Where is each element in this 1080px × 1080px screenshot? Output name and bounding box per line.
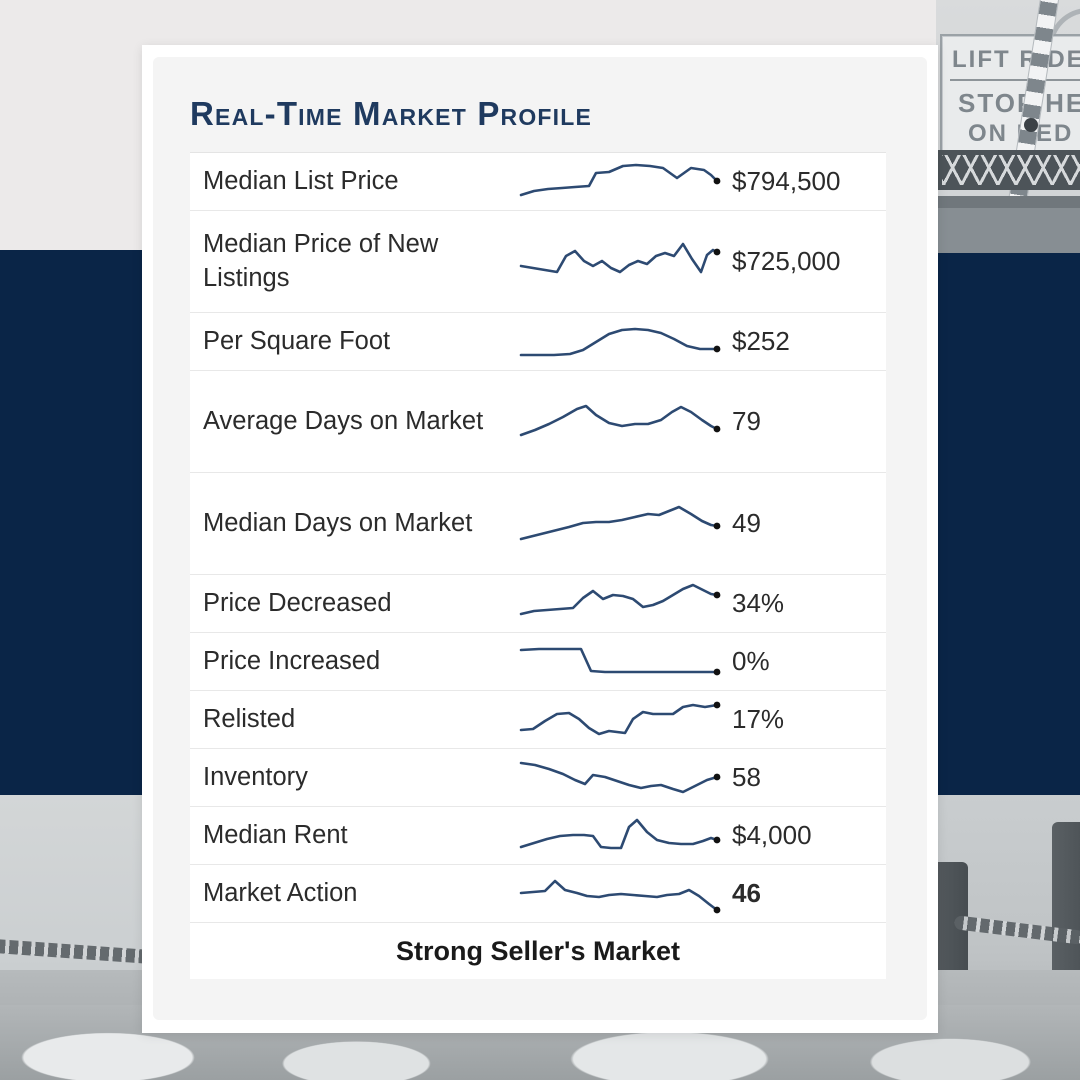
metric-value: 17% <box>717 704 874 735</box>
table-row[interactable]: Median Days on Market49 <box>190 473 886 575</box>
table-row[interactable]: Median Rent$4,000 <box>190 807 886 865</box>
table-row[interactable]: Per Square Foot$252 <box>190 313 886 371</box>
sparkline-chart <box>521 697 717 743</box>
table-row[interactable]: Median List Price$794,500 <box>190 153 886 211</box>
metric-label: Price Decreased <box>203 587 521 621</box>
metric-value: $4,000 <box>717 820 874 851</box>
sign-plate: LIFT RIDE STOP HERE ON RED <box>940 34 1080 156</box>
sparkline-chart <box>521 159 717 205</box>
metric-label: Average Days on Market <box>203 405 521 439</box>
sparkline-chart <box>521 639 717 685</box>
metric-value: 34% <box>717 588 874 619</box>
metric-label: Median Price of New Listings <box>203 228 521 295</box>
table-row[interactable]: Price Increased0% <box>190 633 886 691</box>
metric-label: Per Square Foot <box>203 325 521 359</box>
metric-value: 79 <box>717 406 874 437</box>
sparkline-chart <box>521 319 717 365</box>
market-profile-card: Real-Time Market Profile Median List Pri… <box>142 45 938 1033</box>
ski-lift-sign-photo: LIFT RIDE STOP HERE ON RED <box>936 0 1080 253</box>
card-panel: Real-Time Market Profile Median List Pri… <box>153 57 927 1020</box>
metric-value: $725,000 <box>717 246 874 277</box>
metric-label: Median Days on Market <box>203 507 521 541</box>
status-badge: Strong Seller's Market <box>396 936 680 967</box>
page-title: Real-Time Market Profile <box>190 95 592 133</box>
sparkline-chart <box>521 581 717 627</box>
table-row[interactable]: Relisted17% <box>190 691 886 749</box>
sparkline-chart <box>521 239 717 285</box>
metric-value: 58 <box>717 762 874 793</box>
market-metrics-table: Median List Price$794,500Median Price of… <box>190 152 886 979</box>
metric-value: 0% <box>717 646 874 677</box>
metric-label: Relisted <box>203 703 521 737</box>
metric-value: 46 <box>717 878 874 909</box>
sparkline-chart <box>521 755 717 801</box>
sign-line-2-label: STOP HERE <box>958 88 1080 119</box>
metric-value: $794,500 <box>717 166 874 197</box>
table-row[interactable]: Market Action46 <box>190 865 886 923</box>
metric-label: Inventory <box>203 761 521 795</box>
sign-truss <box>936 150 1080 190</box>
table-row[interactable]: Median Price of New Listings$725,000 <box>190 211 886 313</box>
sign-bolt <box>1024 118 1038 132</box>
table-row[interactable]: Average Days on Market79 <box>190 371 886 473</box>
metric-label: Median List Price <box>203 165 521 199</box>
sparkline-chart <box>521 399 717 445</box>
sign-deck <box>936 208 1080 253</box>
metric-value: 49 <box>717 508 874 539</box>
metric-value: $252 <box>717 326 874 357</box>
sparkline-chart <box>521 813 717 859</box>
metric-label: Price Increased <box>203 645 521 679</box>
market-status-footer: Strong Seller's Market <box>190 923 886 979</box>
sign-divider <box>950 79 1080 81</box>
chain-shape <box>0 937 144 966</box>
screenshot-canvas: LIFT RIDE STOP HERE ON RED Real-Time Mar… <box>0 0 1080 1080</box>
sparkline-chart <box>521 501 717 547</box>
metric-label: Market Action <box>203 877 521 911</box>
sparkline-chart <box>521 871 717 917</box>
table-row[interactable]: Price Decreased34% <box>190 575 886 633</box>
table-row[interactable]: Inventory58 <box>190 749 886 807</box>
metric-label: Median Rent <box>203 819 521 853</box>
sign-line-1-label: LIFT RIDE <box>952 46 1080 74</box>
